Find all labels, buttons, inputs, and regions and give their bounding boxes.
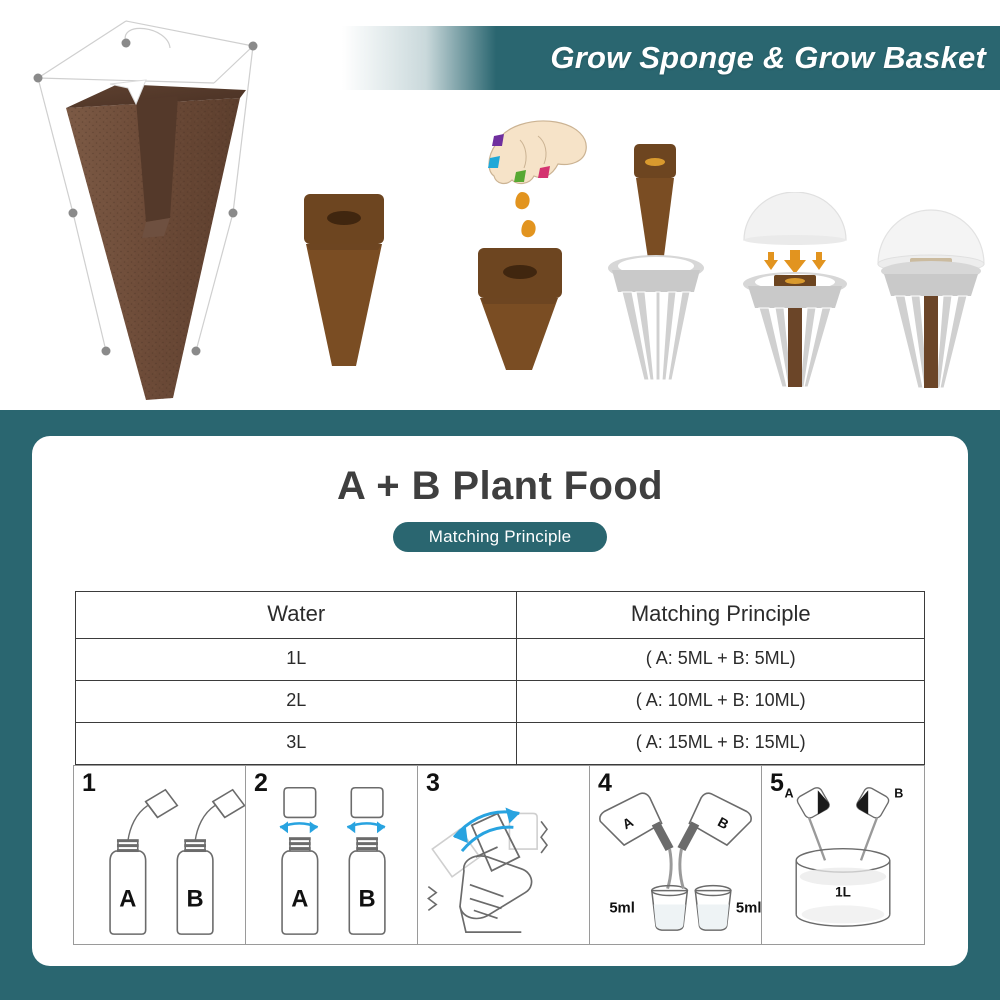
cell-water: 3L xyxy=(76,723,517,765)
bottle-a-label: A xyxy=(619,813,635,832)
cell-water: 1L xyxy=(76,639,517,681)
table-row: 3L ( A: 15ML + B: 15ML) xyxy=(76,723,925,765)
step-number: 2 xyxy=(254,769,268,798)
down-arrow-icon xyxy=(764,250,826,274)
badge-row: Matching Principle xyxy=(32,522,968,552)
table-header-principle: Matching Principle xyxy=(517,592,925,639)
bottle-a-label: A xyxy=(291,886,308,912)
cell-principle: ( A: 5ML + B: 5ML) xyxy=(517,639,925,681)
cell-principle: ( A: 15ML + B: 15ML) xyxy=(517,723,925,765)
instruction-step-1: 1 xyxy=(74,766,246,944)
plant-food-panel: A + B Plant Food Matching Principle Wate… xyxy=(0,410,1000,1000)
table-header-water: Water xyxy=(76,592,517,639)
top-step-assembled-basket xyxy=(868,196,994,388)
hero-sponge-illustration xyxy=(18,8,308,403)
cell-water: 2L xyxy=(76,681,517,723)
top-step-sponge-into-basket xyxy=(596,140,716,380)
bottle-b-label: B xyxy=(187,886,204,912)
banner: Grow Sponge & Grow Basket xyxy=(300,26,1000,90)
step-number: 1 xyxy=(82,769,96,798)
measure-left-label: 5ml xyxy=(609,900,635,916)
instruction-step-5: 5 A B xyxy=(762,766,924,944)
step-number: 4 xyxy=(598,769,612,798)
instruction-step-2: 2 xyxy=(246,766,418,944)
bottle-b-label: B xyxy=(715,813,731,832)
container-volume-label: 1L xyxy=(835,884,851,899)
hand-icon xyxy=(488,121,586,183)
instruction-step-4: 4 A xyxy=(590,766,762,944)
instruction-steps: 1 xyxy=(73,765,925,945)
top-product-section: Grow Sponge & Grow Basket xyxy=(0,0,1000,410)
table-row: 2L ( A: 10ML + B: 10ML) xyxy=(76,681,925,723)
infographic-page: Grow Sponge & Grow Basket A + B Plant Fo… xyxy=(0,0,1000,1000)
table-header-row: Water Matching Principle xyxy=(76,592,925,639)
top-step-sponge-seeding xyxy=(460,110,590,372)
bottle-b-label: B xyxy=(894,786,903,800)
cell-principle: ( A: 10ML + B: 10ML) xyxy=(517,681,925,723)
plant-food-title: A + B Plant Food xyxy=(32,464,968,509)
step-number: 5 xyxy=(770,769,784,798)
banner-title: Grow Sponge & Grow Basket xyxy=(550,40,1000,76)
plant-food-card: A + B Plant Food Matching Principle Wate… xyxy=(32,436,968,966)
bottle-a-label: A xyxy=(784,786,793,800)
dosage-table: Water Matching Principle 1L ( A: 5ML + B… xyxy=(75,591,925,765)
measure-right-label: 5ml xyxy=(736,900,761,916)
top-step-dome-onto-basket xyxy=(730,192,860,387)
top-step-sponge-plain xyxy=(290,190,410,370)
matching-principle-badge: Matching Principle xyxy=(393,522,608,552)
bottle-a-label: A xyxy=(119,886,136,912)
bottle-b-label: B xyxy=(359,886,376,912)
instruction-step-3: 3 xyxy=(418,766,590,944)
step-number: 3 xyxy=(426,769,440,798)
table-row: 1L ( A: 5ML + B: 5ML) xyxy=(76,639,925,681)
